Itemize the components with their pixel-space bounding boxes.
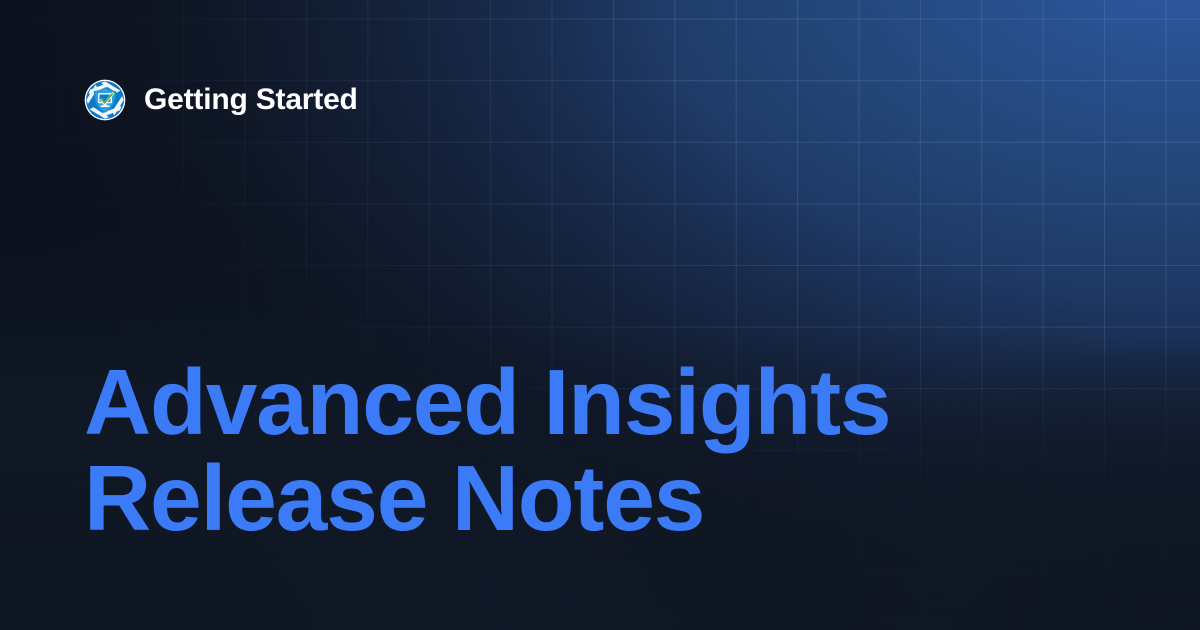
page-title: Advanced Insights Release Notes: [84, 354, 944, 546]
release-notes-banner: Getting Started Advanced Insights Releas…: [0, 0, 1200, 630]
brand-title: Getting Started: [144, 85, 358, 115]
page-title-line-2: Release Notes: [84, 450, 944, 546]
page-title-line-1: Advanced Insights: [84, 354, 944, 450]
shield-monitor-check-icon: [84, 79, 126, 121]
brand-row[interactable]: Getting Started: [84, 79, 358, 121]
